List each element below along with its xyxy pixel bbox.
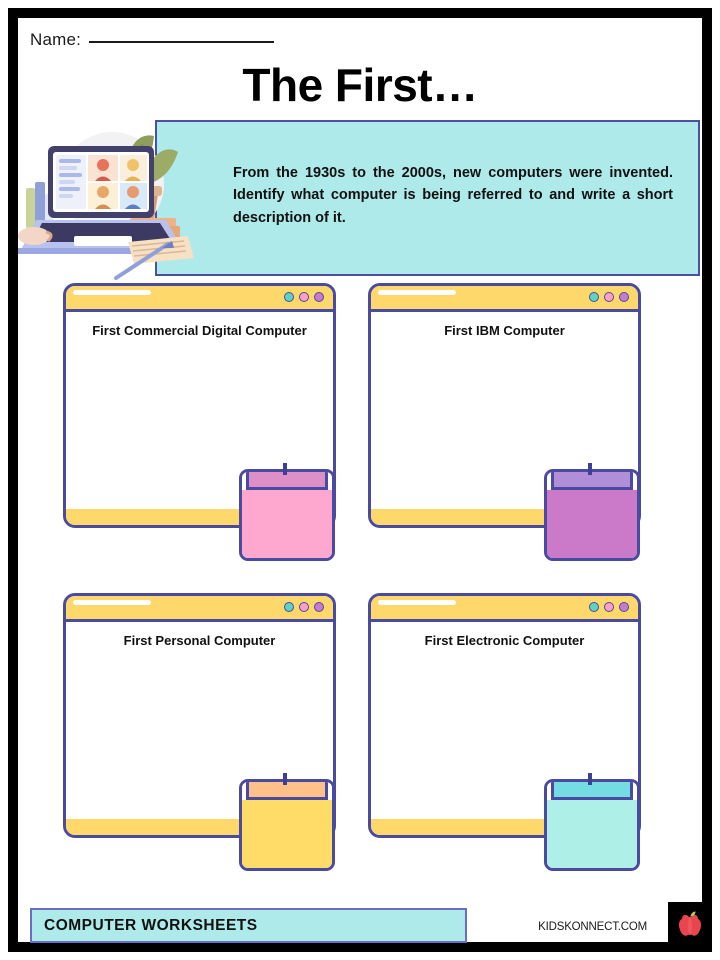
card-heading: First Commercial Digital Computer (66, 312, 333, 340)
footer-category-bar: COMPUTER WORKSHEETS (30, 908, 467, 943)
card-titlebar (371, 596, 638, 622)
titlebar-gloss (378, 290, 456, 295)
titlebar-gloss (73, 290, 151, 295)
sticky-note-corner-right (630, 472, 637, 490)
titlebar-gloss (378, 600, 456, 605)
apple-icon (677, 910, 703, 938)
footer-category-label: COMPUTER WORKSHEETS (44, 917, 258, 935)
window-dots (589, 292, 629, 302)
sticky-note-corner-right (325, 472, 332, 490)
window-dot-pink[interactable] (604, 602, 614, 612)
sticky-note[interactable] (239, 469, 335, 561)
brand-logo-box (668, 902, 712, 946)
window-dots (284, 292, 324, 302)
worksheet-page: Name: The First… From the 1930s to the 2… (0, 0, 720, 960)
sticky-note-corner-right (325, 782, 332, 800)
window-dot-green[interactable] (589, 602, 599, 612)
window-dots (284, 602, 324, 612)
card-titlebar (66, 286, 333, 312)
worksheet-card[interactable]: First Electronic Computer (368, 593, 641, 838)
window-dot-purple[interactable] (619, 602, 629, 612)
sticky-note-band (554, 782, 630, 800)
card-heading: First Personal Computer (66, 622, 333, 650)
window-dot-green[interactable] (589, 292, 599, 302)
card-body: First IBM Computer (371, 312, 638, 493)
sticky-note-band (249, 472, 325, 490)
window-dot-purple[interactable] (314, 292, 324, 302)
card-grid: First Commercial Digital Computer (0, 0, 720, 960)
card-body: First Electronic Computer (371, 622, 638, 803)
sticky-note-stem (283, 463, 287, 475)
sticky-note-stem (283, 773, 287, 785)
window-dot-pink[interactable] (299, 602, 309, 612)
window-dot-purple[interactable] (619, 292, 629, 302)
worksheet-card[interactable]: First Personal Computer (63, 593, 336, 838)
worksheet-card[interactable]: First IBM Computer (368, 283, 641, 528)
sticky-note-corner-left (547, 472, 554, 490)
window-dot-pink[interactable] (299, 292, 309, 302)
sticky-note-band (249, 782, 325, 800)
card-heading: First Electronic Computer (371, 622, 638, 650)
sticky-note-band (554, 472, 630, 490)
sticky-note-corner-right (630, 782, 637, 800)
card-titlebar (66, 596, 333, 622)
window-dot-purple[interactable] (314, 602, 324, 612)
sticky-note-corner-left (547, 782, 554, 800)
sticky-note[interactable] (544, 469, 640, 561)
card-body: First Commercial Digital Computer (66, 312, 333, 493)
sticky-note-stem (588, 463, 592, 475)
sticky-note-corner-left (242, 782, 249, 800)
window-dot-pink[interactable] (604, 292, 614, 302)
sticky-note-stem (588, 773, 592, 785)
window-dot-green[interactable] (284, 292, 294, 302)
card-body: First Personal Computer (66, 622, 333, 803)
card-titlebar (371, 286, 638, 312)
titlebar-gloss (73, 600, 151, 605)
worksheet-card[interactable]: First Commercial Digital Computer (63, 283, 336, 528)
sticky-note[interactable] (239, 779, 335, 871)
window-dot-green[interactable] (284, 602, 294, 612)
window-dots (589, 602, 629, 612)
sticky-note-corner-left (242, 472, 249, 490)
sticky-note[interactable] (544, 779, 640, 871)
card-heading: First IBM Computer (371, 312, 638, 340)
footer-site-label: KIDSKONNECT.COM (538, 921, 647, 933)
